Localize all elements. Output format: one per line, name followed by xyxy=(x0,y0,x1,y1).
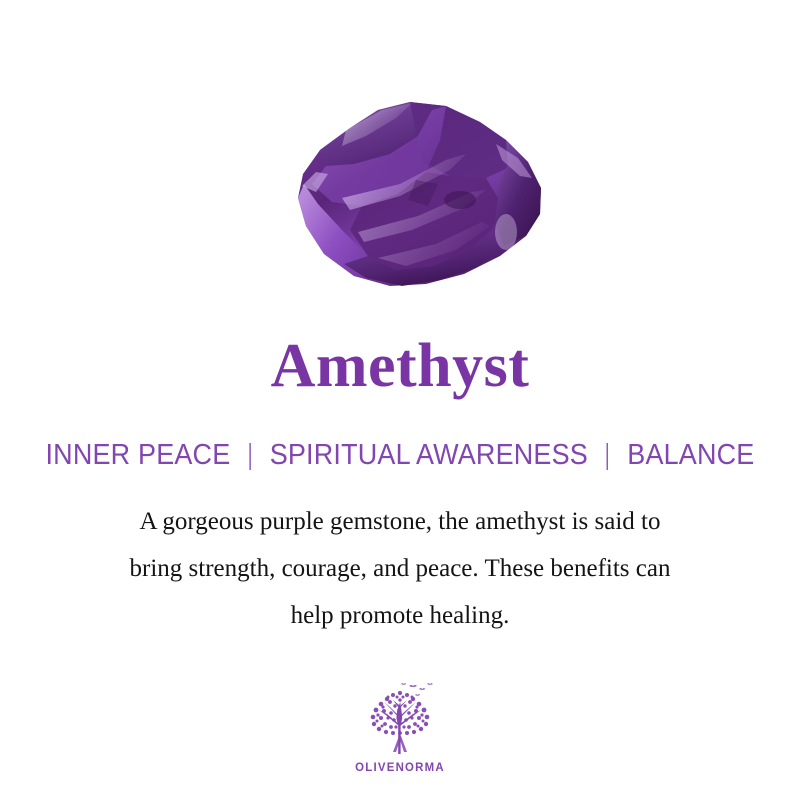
product-title: Amethyst xyxy=(0,335,800,397)
product-keywords: INNER PEACE | SPIRITUAL AWARENESS | BALA… xyxy=(28,440,772,472)
description-line-3: help promote healing. xyxy=(50,592,750,639)
description-line-1: A gorgeous purple gemstone, the amethyst… xyxy=(50,498,750,545)
keyword-inner-peace: INNER PEACE xyxy=(45,439,230,471)
amethyst-crystal-illustration xyxy=(250,80,555,295)
brand-name: OLIVENORMA xyxy=(20,760,780,774)
product-description: A gorgeous purple gemstone, the amethyst… xyxy=(50,498,750,639)
keyword-separator-1: | xyxy=(243,440,257,472)
keyword-balance: BALANCE xyxy=(627,439,754,471)
tree-icon xyxy=(357,680,443,758)
gem-inclusion-2 xyxy=(495,214,517,250)
amethyst-stone-image xyxy=(250,80,555,295)
brand-logo[interactable]: OLIVENORMA xyxy=(0,680,800,774)
keyword-separator-2: | xyxy=(600,440,614,472)
description-line-2: bring strength, courage, and peace. Thes… xyxy=(50,545,750,592)
product-info-card: Amethyst INNER PEACE | SPIRITUAL AWARENE… xyxy=(0,0,800,800)
keyword-spiritual-awareness: SPIRITUAL AWARENESS xyxy=(270,439,588,471)
gem-inclusion-1 xyxy=(444,191,476,209)
